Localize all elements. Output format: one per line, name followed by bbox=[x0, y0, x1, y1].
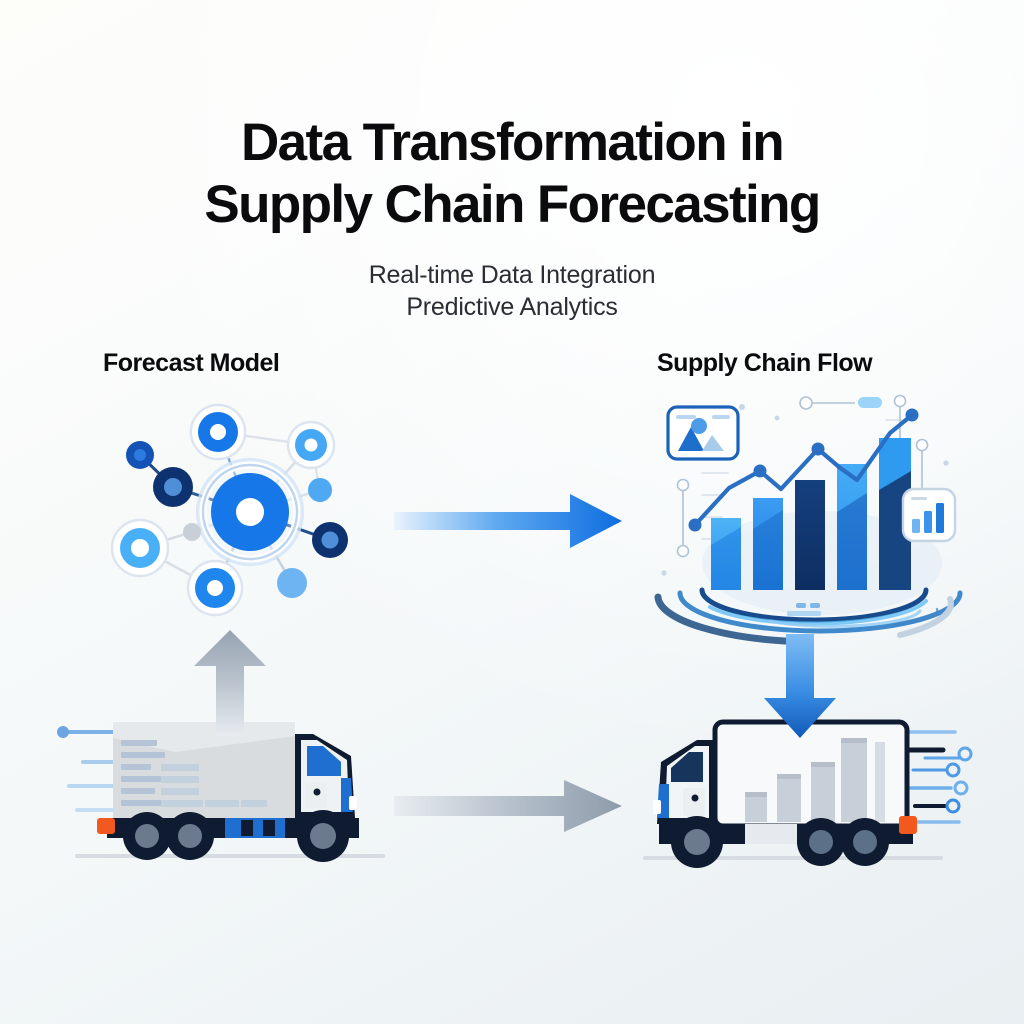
bar-1 bbox=[711, 518, 741, 590]
chart-decor-pill bbox=[858, 397, 882, 408]
node-right-navy bbox=[312, 522, 348, 558]
growth-bar-chart-icon bbox=[650, 385, 980, 635]
truck-taillight-right bbox=[899, 816, 917, 834]
image-placeholder-card-icon bbox=[668, 407, 738, 459]
infographic-canvas: Data Transformation in Supply Chain Fore… bbox=[0, 0, 1024, 1024]
title-line-1: Data Transformation in bbox=[0, 112, 1024, 174]
node-bottom-right bbox=[277, 568, 307, 598]
truck-motion-lines-right bbox=[903, 732, 971, 822]
node-top-right bbox=[288, 422, 334, 468]
section-heading-forecast-model: Forecast Model bbox=[103, 349, 279, 378]
truck-cab-right bbox=[653, 740, 715, 824]
bar-4 bbox=[837, 464, 867, 590]
title-line-2: Supply Chain Forecasting bbox=[0, 174, 1024, 236]
node-left-navy bbox=[153, 467, 193, 507]
arrow-down-blue-icon bbox=[752, 632, 848, 740]
node-left-dot bbox=[183, 523, 201, 541]
bar-2 bbox=[753, 498, 783, 590]
node-top bbox=[191, 405, 245, 459]
subtitle-line-1: Real-time Data Integration bbox=[0, 259, 1024, 291]
arrow-right-blue-icon bbox=[392, 486, 624, 556]
truck-taillight-left bbox=[97, 818, 115, 834]
section-heading-supply-chain-flow: Supply Chain Flow bbox=[657, 349, 872, 378]
page-title: Data Transformation in Supply Chain Fore… bbox=[0, 112, 1024, 236]
node-bottom bbox=[188, 561, 242, 615]
page-subtitle: Real-time Data Integration Predictive An… bbox=[0, 259, 1024, 323]
arrow-up-grey-icon bbox=[182, 628, 278, 738]
chart-bars bbox=[711, 438, 911, 590]
central-hub-node bbox=[196, 458, 304, 566]
arrow-right-grey-icon bbox=[392, 778, 624, 834]
node-left-ringed bbox=[112, 520, 168, 576]
node-upper-left bbox=[126, 441, 154, 469]
mini-bar-chart-card-icon bbox=[903, 489, 955, 541]
subtitle-line-2: Predictive Analytics bbox=[0, 291, 1024, 323]
truck-cab-left bbox=[295, 734, 357, 818]
bar-3 bbox=[795, 480, 825, 590]
network-nodes-icon bbox=[80, 390, 380, 640]
node-right-small bbox=[308, 478, 332, 502]
